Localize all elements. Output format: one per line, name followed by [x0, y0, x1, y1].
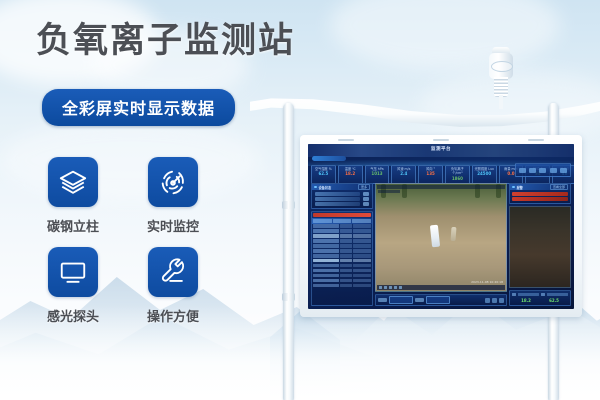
feature-grid: 碳钢立柱	[48, 157, 258, 337]
footer-value: 62.5	[549, 298, 559, 303]
table-cell	[313, 284, 339, 288]
table-row[interactable]	[313, 229, 371, 233]
video-person	[429, 224, 439, 247]
wrench-icon	[158, 257, 188, 287]
table-cell	[353, 264, 371, 268]
video-fullscreen-icon[interactable]	[399, 286, 402, 289]
kpi-value: 1860	[446, 176, 469, 181]
feature-item-monitor[interactable]: 感光探头	[48, 247, 98, 325]
alert-list	[510, 190, 570, 203]
kpi-card: 负氧离子 个/cm³1860	[445, 165, 470, 184]
table-cell	[353, 244, 371, 248]
table-cell	[353, 224, 371, 228]
video-action-icon[interactable]	[492, 298, 497, 303]
video-pause-icon[interactable]	[384, 286, 387, 289]
kpi-value: 2.4	[392, 171, 415, 176]
toolbar-button[interactable]	[560, 168, 567, 173]
video-snapshot-icon[interactable]	[389, 286, 392, 289]
table-column-header	[352, 219, 371, 223]
kpi-value: 18.2	[339, 171, 362, 176]
table-cell	[340, 239, 352, 243]
kpi-value: 135	[419, 171, 442, 176]
led-display-monitor[interactable]: 监测平台 空气湿度 %62.5温度 ℃18.2气压 hPa1013风速 m/s2…	[300, 135, 582, 317]
video-timestamp: 2023-11-08 10:20:18	[471, 280, 503, 284]
table-cell	[340, 284, 352, 288]
table-cell	[313, 234, 339, 238]
status-row	[315, 202, 369, 206]
video-play-icon[interactable]	[379, 286, 382, 289]
footer-values: 18.262.5	[512, 298, 568, 303]
table-cell	[340, 279, 352, 283]
radar-icon	[158, 167, 188, 197]
table-cell	[340, 229, 352, 233]
right-column: 报警 查看全部	[509, 183, 571, 306]
toolbar-button[interactable]	[539, 168, 546, 173]
table-row[interactable]	[313, 239, 371, 243]
video-osd-title	[377, 185, 505, 189]
table-cell	[353, 254, 371, 258]
footer-icon	[541, 293, 545, 297]
table-cell	[353, 269, 371, 273]
monitor-mount	[528, 139, 544, 141]
table-cell	[353, 234, 371, 238]
footer-bar	[518, 293, 539, 297]
kpi-card: 空气湿度 %62.5	[311, 165, 336, 184]
video-action-icon[interactable]	[485, 298, 490, 303]
status-label	[315, 202, 360, 206]
video-action-icon[interactable]	[499, 298, 504, 303]
table-cell	[313, 269, 339, 273]
panel-bullet-icon	[314, 186, 317, 189]
table-column-header	[313, 219, 332, 223]
table-cell	[313, 274, 339, 278]
toolbar-button[interactable]	[519, 168, 526, 173]
data-table-panel	[311, 211, 373, 307]
table-cell	[353, 279, 371, 283]
kpi-value: 62.5	[312, 171, 335, 176]
table-row[interactable]	[313, 224, 371, 228]
table-cell	[340, 274, 352, 278]
dashboard-screen[interactable]: 监测平台 空气湿度 %62.5温度 ℃18.2气压 hPa1013风速 m/s2…	[308, 144, 574, 309]
weather-sensor-icon	[488, 47, 514, 105]
monitoring-station: 监测平台 空气湿度 %62.5温度 ℃18.2气压 hPa1013风速 m/s2…	[250, 25, 600, 385]
hero-badge: 全彩屏实时显示数据	[42, 89, 235, 126]
video-column: 2023-11-08 10:20:18	[375, 183, 507, 306]
table-row[interactable]	[313, 254, 371, 258]
kpi-card: 气压 hPa1013	[365, 165, 390, 184]
panel-title: 设备状态	[319, 185, 332, 190]
table-cell	[313, 244, 339, 248]
status-row	[315, 192, 369, 196]
table-row[interactable]	[313, 269, 371, 273]
preset-select[interactable]	[426, 296, 450, 304]
monitor-icon	[58, 257, 88, 287]
table-cell	[340, 249, 352, 253]
table-cell	[340, 224, 352, 228]
toolbar-button[interactable]	[529, 168, 536, 173]
footer-row	[512, 293, 568, 297]
right-camera-image[interactable]	[509, 206, 571, 289]
kpi-value: 1013	[366, 171, 389, 176]
alert-item[interactable]	[512, 192, 568, 196]
table-cell	[313, 259, 339, 263]
table-alert-banner	[313, 213, 371, 218]
preset-label	[415, 298, 424, 302]
table-cell	[313, 239, 339, 243]
right-footer-panel: 18.262.5	[509, 290, 571, 306]
feature-tile	[148, 157, 198, 207]
table-body[interactable]	[312, 224, 372, 305]
kpi-card: 光照强度 Lux24500	[472, 165, 497, 184]
device-status-panel: 设备状态 更多	[311, 183, 373, 209]
table-cell	[313, 249, 339, 253]
status-row	[315, 197, 369, 201]
feature-label: 感光探头	[47, 306, 99, 325]
table-cell	[313, 224, 339, 228]
video-control-bar[interactable]	[377, 285, 505, 290]
screen-toolbar[interactable]	[515, 163, 571, 177]
left-column: 设备状态 更多	[311, 183, 373, 306]
table-cell	[340, 244, 352, 248]
table-row[interactable]	[313, 244, 371, 248]
support-post-left	[283, 103, 294, 400]
feature-row: 碳钢立柱	[48, 157, 258, 235]
panel-action-button[interactable]: 查看全部	[550, 184, 568, 190]
table-row[interactable]	[313, 234, 371, 238]
alert-item[interactable]	[512, 197, 568, 201]
table-cell	[340, 269, 352, 273]
table-cell	[353, 284, 371, 288]
video-controls[interactable]	[375, 294, 507, 306]
feature-tile	[148, 247, 198, 297]
status-value	[363, 202, 369, 206]
channel-select[interactable]	[389, 296, 413, 304]
promo-banner: 负氧离子监测站 全彩屏实时显示数据 碳钢立柱	[0, 0, 600, 400]
table-cell	[313, 254, 339, 258]
alert-panel: 报警 查看全部	[509, 183, 571, 204]
table-cell	[353, 229, 371, 233]
table-cell	[313, 279, 339, 283]
table-cell	[313, 229, 339, 233]
table-row[interactable]	[313, 279, 371, 283]
status-value	[363, 197, 369, 201]
channel-label	[378, 298, 387, 302]
table-row[interactable]	[313, 284, 371, 288]
video-person	[451, 227, 457, 241]
table-cell	[353, 274, 371, 278]
table-cell	[340, 234, 352, 238]
video-record-icon[interactable]	[394, 286, 397, 289]
feature-item-wrench[interactable]: 操作方便	[148, 247, 198, 325]
table-cell	[353, 259, 371, 263]
kpi-value: 24500	[473, 171, 496, 176]
table-cell	[340, 259, 352, 263]
table-row[interactable]	[313, 264, 371, 268]
feature-label: 实时监控	[147, 216, 199, 235]
status-value	[363, 192, 369, 196]
monitor-mount	[433, 139, 449, 141]
table-cell	[313, 264, 339, 268]
dashboard-body: 设备状态 更多	[311, 183, 571, 306]
feature-item-radar[interactable]: 实时监控	[148, 157, 198, 235]
device-status-rows	[312, 190, 372, 208]
kpi-label: 负氧离子 个/cm³	[446, 167, 469, 176]
table-row[interactable]	[313, 249, 371, 253]
post-joint	[282, 293, 295, 301]
table-row[interactable]	[313, 274, 371, 278]
table-cell	[353, 239, 371, 243]
video-osd-subtitle	[378, 190, 400, 193]
table-cell	[340, 254, 352, 258]
panel-action-button[interactable]: 更多	[358, 184, 370, 190]
dashboard-title: 监测平台	[308, 146, 574, 152]
status-label	[315, 192, 360, 196]
table-cell	[353, 249, 371, 253]
table-cell	[340, 264, 352, 268]
feature-tile	[48, 157, 98, 207]
panel-bullet-icon	[512, 186, 515, 189]
layers-icon	[58, 167, 88, 197]
footer-bar	[547, 293, 568, 297]
video-action-buttons	[485, 298, 504, 303]
status-label	[315, 197, 360, 201]
feature-row: 感光探头 操作方便	[48, 247, 258, 325]
feature-item-layers[interactable]: 碳钢立柱	[48, 157, 98, 235]
feature-label: 操作方便	[147, 306, 199, 325]
footer-value: 18.2	[521, 298, 531, 303]
kpi-card: 风向 °135	[418, 165, 443, 184]
panel-title: 报警	[517, 185, 523, 190]
table-column-header	[333, 219, 352, 223]
feature-label: 碳钢立柱	[47, 216, 99, 235]
feature-tile	[48, 247, 98, 297]
footer-icon	[512, 293, 516, 297]
toolbar-button[interactable]	[550, 168, 557, 173]
post-joint	[282, 201, 295, 209]
monitor-mount	[338, 139, 354, 141]
table-row[interactable]	[313, 259, 371, 263]
video-feed[interactable]: 2023-11-08 10:20:18	[375, 183, 507, 292]
kpi-card: 风速 m/s2.4	[391, 165, 416, 184]
kpi-card: 温度 ℃18.2	[338, 165, 363, 184]
